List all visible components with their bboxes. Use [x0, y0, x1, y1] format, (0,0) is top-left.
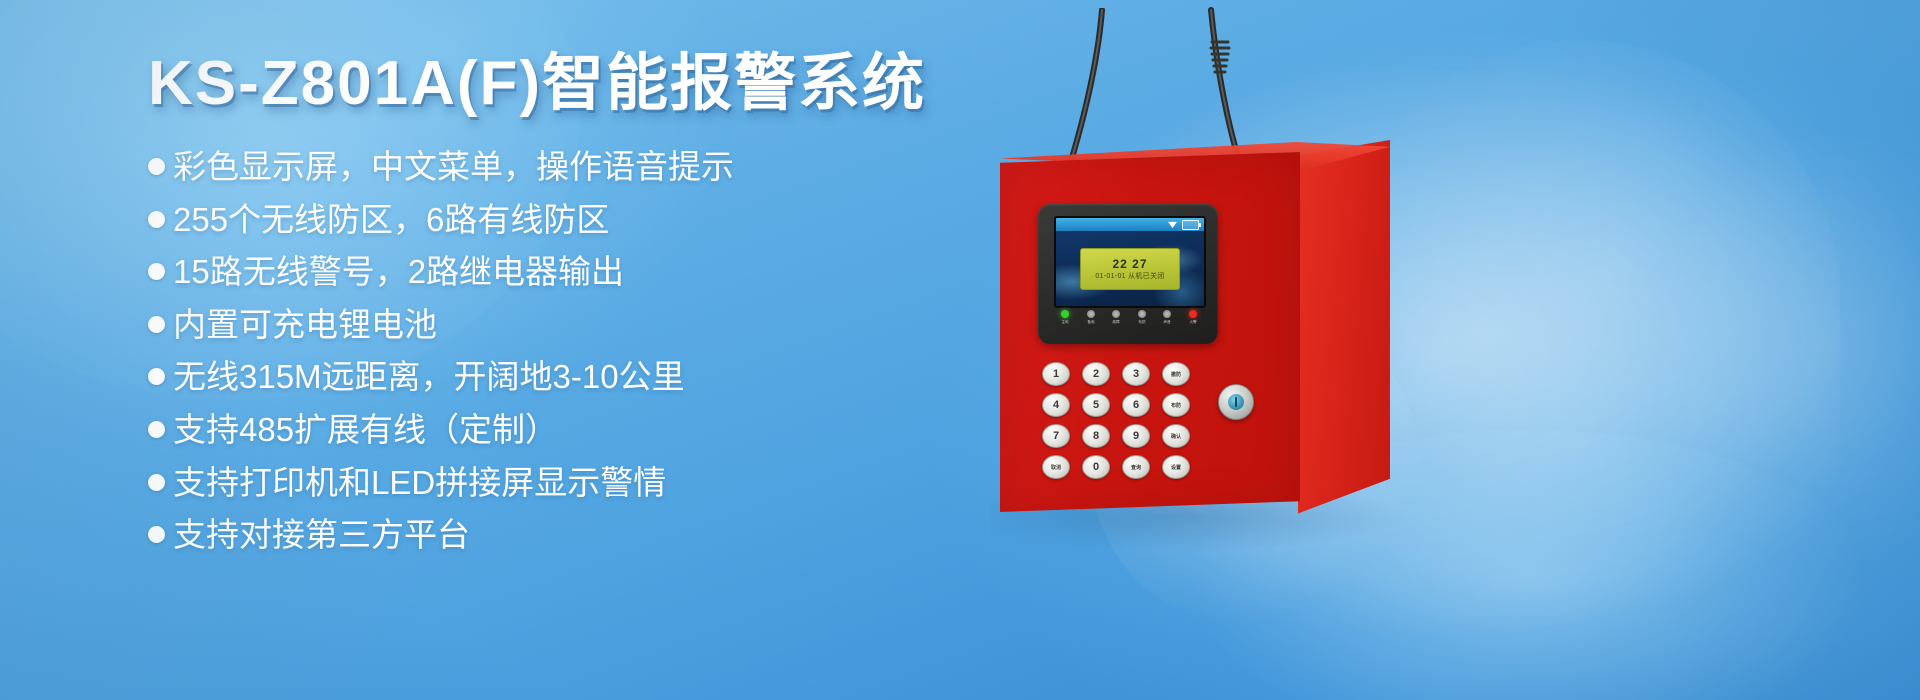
feature-list: 彩色显示屏，中文菜单，操作语音提示 255个无线防区，6路有线防区 15路无线警…: [148, 145, 1048, 556]
led-label: 主电: [1061, 320, 1068, 324]
led-dot-icon: [1112, 310, 1120, 318]
list-item: 支持对接第三方平台: [148, 513, 1048, 557]
list-item: 彩色显示屏，中文菜单，操作语音提示: [148, 145, 1048, 189]
cabinet-front: 22 27 01-01-01 从机已关闭 主电: [1000, 152, 1300, 512]
key-disarm[interactable]: 撤防: [1162, 362, 1190, 386]
key-6[interactable]: 6: [1122, 393, 1150, 417]
key-8[interactable]: 8: [1082, 424, 1110, 448]
led-label: 声音: [1164, 320, 1171, 324]
antenna-right-icon: [1203, 6, 1249, 156]
banner-copy: KS-Z801A(F)智能报警系统 彩色显示屏，中文菜单，操作语音提示 255个…: [148, 48, 1048, 566]
key-1[interactable]: 1: [1042, 362, 1070, 386]
led-label: 布防: [1138, 320, 1145, 324]
led-indicator-row: 主电 备电 故障 布防: [1054, 310, 1204, 324]
feature-text: 支持对接第三方平台: [173, 513, 470, 557]
feature-text: 15路无线警号，2路继电器输出: [173, 250, 624, 294]
lock-core: [1228, 394, 1244, 410]
bullet-icon: [148, 263, 165, 280]
banner-stage: KS-Z801A(F)智能报警系统 彩色显示屏，中文菜单，操作语音提示 255个…: [0, 0, 1920, 700]
led-dot-icon: [1189, 310, 1197, 318]
list-item: 内置可充电锂电池: [148, 303, 1048, 347]
key-lock-icon[interactable]: [1218, 384, 1254, 420]
led-label: 火警: [1189, 320, 1196, 324]
keypad[interactable]: 1 2 3 撤防 4 5 6 布防 7 8 9 确认 取消 0 查询 设置: [1042, 362, 1192, 479]
signal-icon: [1168, 221, 1177, 229]
page-title: KS-Z801A(F)智能报警系统: [148, 48, 1048, 119]
led-indicator-sound: 声音: [1156, 310, 1178, 324]
key-0[interactable]: 0: [1082, 455, 1110, 479]
bullet-icon: [148, 316, 165, 333]
bullet-icon: [148, 526, 165, 543]
lcd-info-panel: 22 27 01-01-01 从机已关闭: [1080, 248, 1180, 290]
bullet-icon: [148, 421, 165, 438]
list-item: 15路无线警号，2路继电器输出: [148, 250, 1048, 294]
key-cancel[interactable]: 取消: [1042, 455, 1070, 479]
key-3[interactable]: 3: [1122, 362, 1150, 386]
led-label: 备电: [1087, 320, 1094, 324]
list-item: 支持485扩展有线（定制）: [148, 408, 1048, 452]
antenna-coil-icon: [1208, 38, 1234, 76]
battery-icon: [1182, 220, 1199, 230]
led-dot-icon: [1087, 310, 1095, 318]
list-item: 255个无线防区，6路有线防区: [148, 198, 1048, 242]
list-item: 无线315M远距离，开阔地3-10公里: [148, 355, 1048, 399]
lcd-screen[interactable]: 22 27 01-01-01 从机已关闭: [1054, 216, 1206, 308]
lcd-date: 01-01-01: [1095, 273, 1125, 280]
lcd-status-bar: [1056, 218, 1204, 231]
led-indicator-backup-power: 备电: [1080, 310, 1102, 324]
led-indicator-fault: 故障: [1105, 310, 1127, 324]
bullet-icon: [148, 211, 165, 228]
faceplate: 22 27 01-01-01 从机已关闭 主电: [1038, 204, 1218, 344]
feature-text: 内置可充电锂电池: [173, 303, 437, 347]
key-7[interactable]: 7: [1042, 424, 1070, 448]
cabinet-side: [1298, 140, 1390, 525]
key-2[interactable]: 2: [1082, 362, 1110, 386]
lcd-date-status: 01-01-01 从机已关闭: [1095, 273, 1164, 280]
product-image: 22 27 01-01-01 从机已关闭 主电: [960, 0, 1920, 700]
led-indicator-armed: 布防: [1131, 310, 1153, 324]
bullet-icon: [148, 368, 165, 385]
feature-text: 支持485扩展有线（定制）: [173, 408, 558, 452]
led-indicator-main-power: 主电: [1054, 310, 1076, 324]
key-4[interactable]: 4: [1042, 393, 1070, 417]
feature-text: 支持打印机和LED拼接屏显示警情: [173, 461, 666, 505]
key-settings[interactable]: 设置: [1162, 455, 1190, 479]
key-5[interactable]: 5: [1082, 393, 1110, 417]
key-9[interactable]: 9: [1122, 424, 1150, 448]
bullet-icon: [148, 474, 165, 491]
lock-keyhole: [1235, 397, 1237, 407]
key-query[interactable]: 查询: [1122, 455, 1150, 479]
feature-text: 彩色显示屏，中文菜单，操作语音提示: [173, 145, 734, 189]
led-label: 故障: [1113, 320, 1120, 324]
led-dot-icon: [1061, 310, 1069, 318]
feature-text: 255个无线防区，6路有线防区: [173, 198, 609, 242]
key-confirm[interactable]: 确认: [1162, 424, 1190, 448]
led-dot-icon: [1138, 310, 1146, 318]
alarm-panel-cabinet: 22 27 01-01-01 从机已关闭 主电: [1000, 140, 1390, 525]
led-dot-icon: [1163, 310, 1171, 318]
lcd-time: 22 27: [1112, 258, 1147, 270]
led-indicator-fire-alarm: 火警: [1182, 310, 1204, 324]
bullet-icon: [148, 158, 165, 175]
list-item: 支持打印机和LED拼接屏显示警情: [148, 461, 1048, 505]
feature-text: 无线315M远距离，开阔地3-10公里: [173, 355, 685, 399]
key-arm[interactable]: 布防: [1162, 393, 1190, 417]
lcd-status: 从机已关闭: [1128, 273, 1165, 280]
